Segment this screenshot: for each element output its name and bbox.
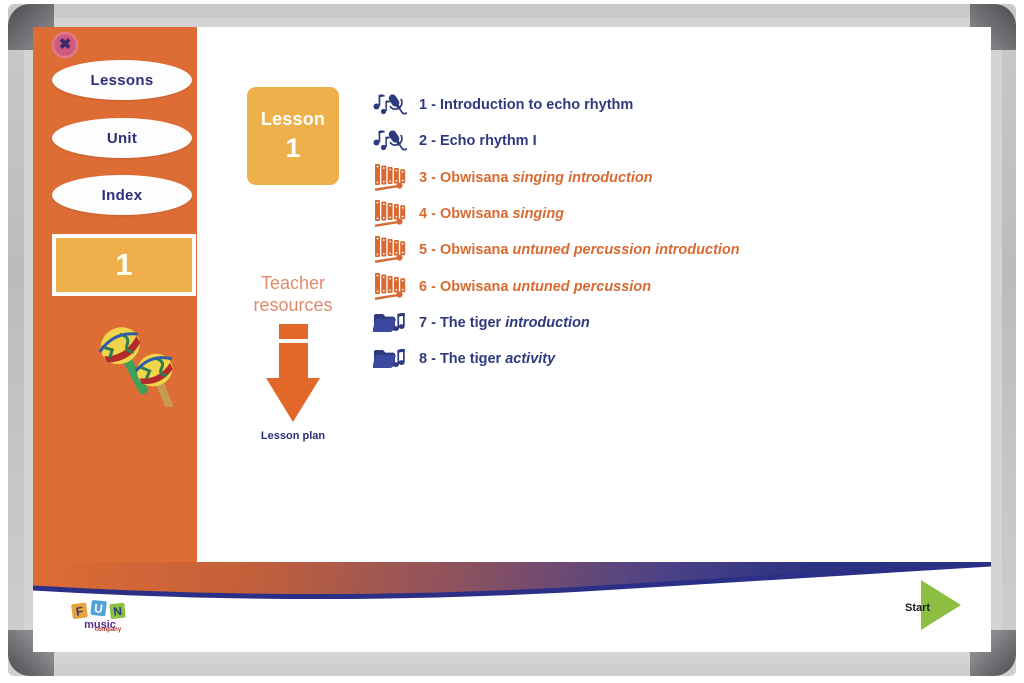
lesson-card-number: 1 xyxy=(285,133,300,164)
lesson-list: 1 - Introduction to echo rhythm 2 - Echo… xyxy=(373,87,973,377)
xylophone-icon xyxy=(373,234,419,266)
arrow-stem xyxy=(279,343,308,381)
lesson-list-item-label: 8 - The tiger activity xyxy=(419,351,555,367)
svg-text:U: U xyxy=(93,601,103,616)
lesson-list-item[interactable]: 8 - The tiger activity xyxy=(373,341,973,377)
lesson-list-item-label: 3 - Obwisana singing introduction xyxy=(419,170,653,186)
lesson-list-item[interactable]: 5 - Obwisana untuned percussion introduc… xyxy=(373,232,973,268)
footer-band: F U N music company Start xyxy=(33,562,991,652)
microphone-icon xyxy=(373,92,407,118)
svg-text:company: company xyxy=(95,627,122,633)
folder-music-icon xyxy=(373,310,407,336)
folder-music-icon xyxy=(373,346,419,372)
lesson-list-item[interactable]: 7 - The tiger introduction xyxy=(373,305,973,341)
current-lesson-number: 1 xyxy=(115,247,132,283)
lesson-list-item-label: 4 - Obwisana singing xyxy=(419,206,564,222)
folder-music-icon xyxy=(373,310,419,336)
maracas-icon xyxy=(88,317,188,407)
close-icon[interactable]: ✖ xyxy=(52,32,78,58)
xylophone-icon xyxy=(373,271,419,303)
lesson-list-item-label: 7 - The tiger introduction xyxy=(419,315,590,331)
sidebar-item-lessons[interactable]: Lessons xyxy=(52,60,192,100)
lesson-screen: ✖ Lessons Unit Index 1 xyxy=(33,27,991,652)
xylophone-icon xyxy=(373,162,409,194)
down-arrow-icon[interactable] xyxy=(250,324,336,422)
lesson-list-item-label: 6 - Obwisana untuned percussion xyxy=(419,279,651,295)
lesson-list-item[interactable]: 6 - Obwisana untuned percussion xyxy=(373,268,973,304)
sidebar-item-unit[interactable]: Unit xyxy=(52,118,192,158)
arrow-head xyxy=(266,378,320,422)
fun-music-logo[interactable]: F U N music company xyxy=(55,596,151,638)
close-glyph: ✖ xyxy=(59,37,72,52)
microphone-icon xyxy=(373,128,419,154)
lesson-list-item-label: 2 - Echo rhythm I xyxy=(419,133,537,149)
sidebar-item-label: Index xyxy=(102,187,143,204)
arrow-cap xyxy=(279,324,308,339)
lesson-list-item-label: 1 - Introduction to echo rhythm xyxy=(419,97,633,113)
fullscreen-icon[interactable] xyxy=(951,614,985,644)
start-label: Start xyxy=(905,602,930,614)
lesson-list-item-label: 5 - Obwisana untuned percussion introduc… xyxy=(419,242,740,258)
lesson-list-item[interactable]: 1 - Introduction to echo rhythm xyxy=(373,87,973,123)
lesson-list-item[interactable]: 3 - Obwisana singing introduction xyxy=(373,160,973,196)
microphone-icon xyxy=(373,128,407,154)
teacher-resources-title-line2: resources xyxy=(228,294,358,316)
sidebar-item-index[interactable]: Index xyxy=(52,175,192,215)
xylophone-icon xyxy=(373,271,409,303)
xylophone-icon xyxy=(373,198,409,230)
lesson-card-word: Lesson xyxy=(261,109,325,130)
whiteboard-frame: ✖ Lessons Unit Index 1 xyxy=(0,0,1024,683)
sidebar-item-label: Unit xyxy=(107,130,137,147)
lesson-plan-caption: Lesson plan xyxy=(228,430,358,442)
sidebar: ✖ Lessons Unit Index 1 xyxy=(33,27,197,652)
svg-text:N: N xyxy=(113,604,123,619)
xylophone-icon xyxy=(373,162,419,194)
lesson-list-item[interactable]: 2 - Echo rhythm I xyxy=(373,123,973,159)
folder-music-icon xyxy=(373,346,407,372)
sidebar-item-label: Lessons xyxy=(91,72,154,89)
xylophone-icon xyxy=(373,198,419,230)
teacher-resources: Teacher resources Lesson plan xyxy=(228,272,358,442)
current-lesson-number-box[interactable]: 1 xyxy=(52,234,196,296)
lesson-card[interactable]: Lesson 1 xyxy=(247,87,339,185)
microphone-icon xyxy=(373,92,419,118)
xylophone-icon xyxy=(373,234,409,266)
lesson-list-item[interactable]: 4 - Obwisana singing xyxy=(373,196,973,232)
logo-graphic: F U N music company xyxy=(64,600,142,634)
teacher-resources-title-line1: Teacher xyxy=(228,272,358,294)
